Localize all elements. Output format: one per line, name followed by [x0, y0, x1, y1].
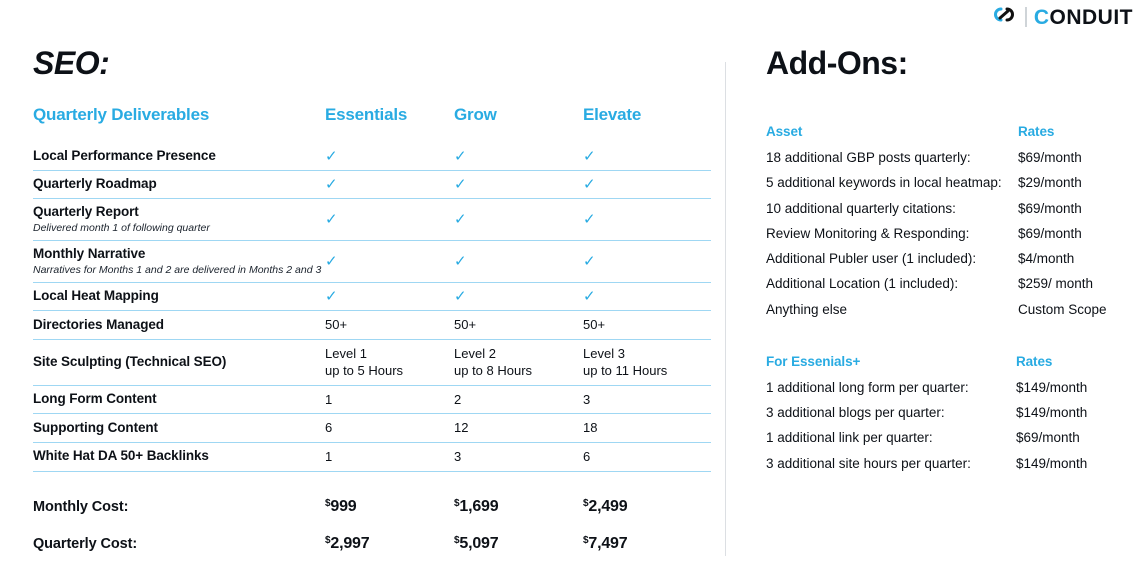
table-row: Site Sculpting (Technical SEO)Level 1up … [33, 339, 711, 385]
value-cell-elevate: 18 [583, 414, 711, 443]
feature-name: Local Heat Mapping [33, 288, 325, 305]
addons-table: For Essenials+Rates1 additional long for… [766, 354, 1124, 476]
check-icon: ✓ [583, 254, 711, 269]
addons-row: Additional Publer user (1 included):$4/m… [766, 246, 1124, 271]
cell-value: 6 [325, 419, 454, 437]
feature-cell: Local Performance Presence [33, 143, 325, 170]
feature-name: Directories Managed [33, 317, 325, 334]
cell-value: 2 [454, 391, 583, 409]
addon-asset: 3 additional site hours per quarter: [766, 451, 1016, 476]
cost-label: Quarterly Cost: [33, 536, 325, 552]
cell-value: 12 [454, 419, 583, 437]
addons-row: 10 additional quarterly citations:$69/mo… [766, 196, 1124, 221]
cost-value: $1,699 [454, 498, 583, 516]
cost-value-cell-elevate: $2,499 [583, 471, 711, 518]
addons-row: 1 additional link per quarter:$69/month [766, 425, 1124, 450]
cost-value-cell-essentials: $999 [325, 471, 454, 518]
cost-value-cell-grow: $1,699 [454, 471, 583, 518]
addons-row: 1 additional long form per quarter:$149/… [766, 375, 1124, 400]
seo-pricing-table: Quarterly Deliverables Essentials Grow E… [33, 105, 711, 555]
addon-rate: $69/month [1016, 196, 1124, 221]
addon-asset: 1 additional long form per quarter: [766, 375, 1016, 400]
value-cell-elevate: ✓ [583, 170, 711, 198]
addon-asset: Review Monitoring & Responding: [766, 221, 1016, 246]
cost-label: Monthly Cost: [33, 499, 325, 515]
currency-symbol: $ [454, 498, 459, 509]
addon-asset: 5 additional keywords in local heatmap: [766, 170, 1016, 195]
addons-row: 5 additional keywords in local heatmap:$… [766, 170, 1124, 195]
addons-column-header-rates: Rates [1016, 124, 1124, 145]
addons-title: Add-Ons: [766, 47, 1126, 79]
check-icon: ✓ [454, 149, 583, 164]
feature-cell: Quarterly Roadmap [33, 170, 325, 198]
seo-panel: SEO: Quarterly Deliverables Essentials G… [33, 0, 713, 555]
cell-value: 50+ [454, 316, 583, 334]
value-cell-essentials: 1 [325, 385, 454, 414]
cell-value: 18 [583, 419, 711, 437]
addon-rate: $149/month [1016, 375, 1124, 400]
cell-value: 6 [583, 448, 711, 466]
feature-name: Local Performance Presence [33, 148, 325, 165]
seo-table-body: Local Performance Presence✓✓✓Quarterly R… [33, 143, 711, 555]
check-icon: ✓ [454, 254, 583, 269]
table-row: Quarterly ReportDelivered month 1 of fol… [33, 198, 711, 240]
table-row: Monthly NarrativeNarratives for Months 1… [33, 241, 711, 283]
currency-symbol: $ [583, 535, 588, 546]
value-cell-grow: ✓ [454, 198, 583, 240]
value-cell-grow: ✓ [454, 283, 583, 311]
feature-name: Quarterly Report [33, 204, 325, 221]
addons-row: Anything elseCustom Scope [766, 297, 1124, 322]
addon-asset: 18 additional GBP posts quarterly: [766, 145, 1016, 170]
addon-asset: 10 additional quarterly citations: [766, 196, 1016, 221]
feature-name: White Hat DA 50+ Backlinks [33, 448, 325, 465]
addon-rate: $69/month [1016, 221, 1124, 246]
addons-header-row: For Essenials+Rates [766, 354, 1124, 375]
table-header-row: Quarterly Deliverables Essentials Grow E… [33, 105, 711, 143]
cost-value: $2,499 [583, 498, 711, 516]
value-cell-elevate: Level 3up to 11 Hours [583, 339, 711, 385]
addon-rate: Custom Scope [1016, 297, 1124, 322]
addons-sections: AssetRates18 additional GBP posts quarte… [766, 124, 1126, 476]
value-cell-essentials: 6 [325, 414, 454, 443]
feature-cell: Monthly NarrativeNarratives for Months 1… [33, 241, 325, 283]
cost-label-cell: Monthly Cost: [33, 471, 325, 518]
cell-value: Level 3up to 11 Hours [583, 345, 711, 380]
check-icon: ✓ [325, 212, 454, 227]
currency-symbol: $ [454, 535, 459, 546]
addons-header-row: AssetRates [766, 124, 1124, 145]
addon-rate: $29/month [1016, 170, 1124, 195]
check-icon: ✓ [325, 289, 454, 304]
table-row: Supporting Content61218 [33, 414, 711, 443]
value-cell-essentials: 50+ [325, 311, 454, 340]
value-cell-grow: Level 2up to 8 Hours [454, 339, 583, 385]
value-cell-essentials: ✓ [325, 143, 454, 170]
addon-rate: $259/ month [1016, 271, 1124, 296]
addons-row: 3 additional blogs per quarter:$149/mont… [766, 400, 1124, 425]
column-header-elevate: Elevate [583, 105, 711, 143]
currency-symbol: $ [325, 498, 330, 509]
addons-row: 3 additional site hours per quarter:$149… [766, 451, 1124, 476]
column-header-grow: Grow [454, 105, 583, 143]
feature-cell: White Hat DA 50+ Backlinks [33, 442, 325, 471]
addons-row: Review Monitoring & Responding:$69/month [766, 221, 1124, 246]
feature-name: Site Sculpting (Technical SEO) [33, 354, 325, 371]
addons-column-header-asset: Asset [766, 124, 1016, 145]
check-icon: ✓ [454, 289, 583, 304]
value-cell-elevate: ✓ [583, 241, 711, 283]
value-cell-essentials: 1 [325, 442, 454, 471]
check-icon: ✓ [583, 149, 711, 164]
table-row: Directories Managed50+50+50+ [33, 311, 711, 340]
cell-value: 50+ [583, 316, 711, 334]
addon-asset: Additional Location (1 included): [766, 271, 1016, 296]
addons-column-header-rates: Rates [1016, 354, 1124, 375]
feature-cell: Long Form Content [33, 385, 325, 414]
check-icon: ✓ [325, 177, 454, 192]
value-cell-grow: ✓ [454, 241, 583, 283]
value-cell-elevate: 3 [583, 385, 711, 414]
cost-value: $5,097 [454, 535, 583, 553]
value-cell-essentials: ✓ [325, 283, 454, 311]
value-cell-essentials: ✓ [325, 241, 454, 283]
cost-value-cell-elevate: $7,497 [583, 518, 711, 555]
check-icon: ✓ [454, 177, 583, 192]
check-icon: ✓ [583, 177, 711, 192]
currency-symbol: $ [583, 498, 588, 509]
addon-rate: $4/month [1016, 246, 1124, 271]
cell-value: 3 [454, 448, 583, 466]
cell-value: 1 [325, 391, 454, 409]
feature-cell: Site Sculpting (Technical SEO) [33, 339, 325, 385]
value-cell-elevate: 6 [583, 442, 711, 471]
addons-row: Additional Location (1 included):$259/ m… [766, 271, 1124, 296]
value-cell-essentials: Level 1up to 5 Hours [325, 339, 454, 385]
cost-value: $2,997 [325, 535, 454, 553]
cost-value-cell-grow: $5,097 [454, 518, 583, 555]
addon-rate: $69/month [1016, 425, 1124, 450]
value-cell-elevate: ✓ [583, 143, 711, 170]
value-cell-grow: 50+ [454, 311, 583, 340]
value-cell-elevate: ✓ [583, 198, 711, 240]
cell-value: 1 [325, 448, 454, 466]
addons-column-header-asset: For Essenials+ [766, 354, 1016, 375]
feature-cell: Directories Managed [33, 311, 325, 340]
addon-asset: 1 additional link per quarter: [766, 425, 1016, 450]
addon-asset: 3 additional blogs per quarter: [766, 400, 1016, 425]
cost-row: Quarterly Cost:$2,997$5,097$7,497 [33, 518, 711, 555]
addons-table: AssetRates18 additional GBP posts quarte… [766, 124, 1124, 322]
check-icon: ✓ [583, 289, 711, 304]
addon-asset: Anything else [766, 297, 1016, 322]
addon-rate: $149/month [1016, 451, 1124, 476]
value-cell-grow: 12 [454, 414, 583, 443]
cell-value: Level 1up to 5 Hours [325, 345, 454, 380]
addon-rate: $69/month [1016, 145, 1124, 170]
check-icon: ✓ [325, 254, 454, 269]
feature-cell: Quarterly ReportDelivered month 1 of fol… [33, 198, 325, 240]
table-row: White Hat DA 50+ Backlinks136 [33, 442, 711, 471]
addons-row: 18 additional GBP posts quarterly:$69/mo… [766, 145, 1124, 170]
cost-value: $999 [325, 498, 454, 516]
cost-label-cell: Quarterly Cost: [33, 518, 325, 555]
check-icon: ✓ [325, 149, 454, 164]
panel-divider [725, 62, 726, 556]
value-cell-essentials: ✓ [325, 198, 454, 240]
cost-value: $7,497 [583, 535, 711, 553]
check-icon: ✓ [454, 212, 583, 227]
feature-subtext: Narratives for Months 1 and 2 are delive… [33, 264, 325, 277]
cell-value: 3 [583, 391, 711, 409]
table-row: Quarterly Roadmap✓✓✓ [33, 170, 711, 198]
value-cell-essentials: ✓ [325, 170, 454, 198]
feature-name: Supporting Content [33, 420, 325, 437]
addon-rate: $149/month [1016, 400, 1124, 425]
cost-row: Monthly Cost:$999$1,699$2,499 [33, 471, 711, 518]
table-row: Local Heat Mapping✓✓✓ [33, 283, 711, 311]
value-cell-grow: ✓ [454, 143, 583, 170]
table-row: Long Form Content123 [33, 385, 711, 414]
column-header-deliverables: Quarterly Deliverables [33, 105, 325, 143]
cell-value: Level 2up to 8 Hours [454, 345, 583, 380]
cost-value-cell-essentials: $2,997 [325, 518, 454, 555]
addon-asset: Additional Publer user (1 included): [766, 246, 1016, 271]
seo-title: SEO: [33, 47, 713, 79]
addons-panel: Add-Ons: AssetRates18 additional GBP pos… [766, 0, 1126, 476]
column-header-essentials: Essentials [325, 105, 454, 143]
feature-subtext: Delivered month 1 of following quarter [33, 222, 325, 235]
value-cell-elevate: 50+ [583, 311, 711, 340]
feature-name: Long Form Content [33, 391, 325, 408]
currency-symbol: $ [325, 535, 330, 546]
feature-cell: Local Heat Mapping [33, 283, 325, 311]
value-cell-grow: 3 [454, 442, 583, 471]
value-cell-elevate: ✓ [583, 283, 711, 311]
value-cell-grow: 2 [454, 385, 583, 414]
cell-value: 50+ [325, 316, 454, 334]
value-cell-grow: ✓ [454, 170, 583, 198]
feature-cell: Supporting Content [33, 414, 325, 443]
check-icon: ✓ [583, 212, 711, 227]
feature-name: Quarterly Roadmap [33, 176, 325, 193]
feature-name: Monthly Narrative [33, 246, 325, 263]
table-row: Local Performance Presence✓✓✓ [33, 143, 711, 170]
